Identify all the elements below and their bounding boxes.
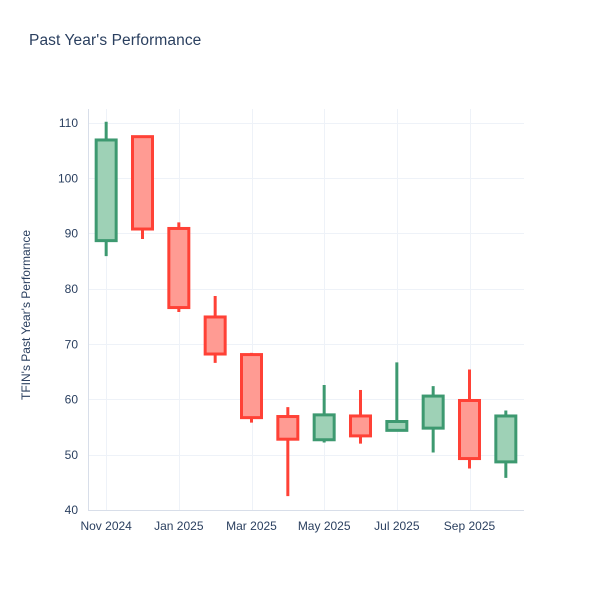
candlestick (242, 353, 262, 423)
candle-body (278, 417, 298, 440)
candlestick (351, 390, 371, 444)
candlestick (169, 222, 189, 312)
candlestick (205, 296, 225, 363)
y-tick-label: 60 (65, 393, 79, 407)
x-tick-label: Sep 2025 (444, 519, 496, 533)
candle-body (242, 355, 262, 418)
y-axis-title: TFIN's Past Year's Performance (19, 230, 33, 400)
candlestick-plot: 405060708090100110 Nov 2024Jan 2025Mar 2… (0, 0, 600, 600)
x-tick-label: Jan 2025 (154, 519, 204, 533)
candle-body (133, 137, 153, 229)
y-tick-label: 40 (65, 503, 79, 517)
candle-body (314, 415, 334, 440)
chart-page: Past Year's Performance 4050607080901001… (0, 0, 600, 600)
candles-group (96, 122, 516, 496)
y-tick-label: 100 (58, 171, 78, 185)
candle-body (460, 400, 480, 458)
candlestick (314, 385, 334, 443)
candlestick (460, 370, 480, 469)
candlestick (387, 362, 407, 431)
y-tick-label: 110 (59, 116, 78, 130)
plot-svg: 405060708090100110 Nov 2024Jan 2025Mar 2… (0, 0, 600, 600)
y-tick-label: 50 (65, 448, 79, 462)
x-tick-label: Jul 2025 (374, 519, 420, 533)
x-tick-labels: Nov 2024Jan 2025Mar 2025May 2025Jul 2025… (80, 519, 495, 533)
candle-body (205, 317, 225, 354)
y-tick-label: 80 (65, 282, 79, 296)
candle-body (169, 228, 189, 307)
x-tick-label: Nov 2024 (80, 519, 132, 533)
candle-body (96, 140, 116, 241)
candlestick (133, 137, 153, 239)
candlestick (496, 410, 516, 477)
x-tick-label: May 2025 (298, 519, 351, 533)
candle-body (423, 396, 443, 428)
y-tick-label: 90 (65, 227, 79, 241)
candle-body (387, 422, 407, 431)
y-tick-labels: 405060708090100110 (58, 116, 78, 517)
y-tick-label: 70 (65, 337, 79, 351)
candle-body (351, 416, 371, 436)
candlestick (423, 386, 443, 452)
candlestick (278, 407, 298, 496)
candle-body (496, 416, 516, 462)
candlestick (96, 122, 116, 256)
x-tick-label: Mar 2025 (226, 519, 277, 533)
